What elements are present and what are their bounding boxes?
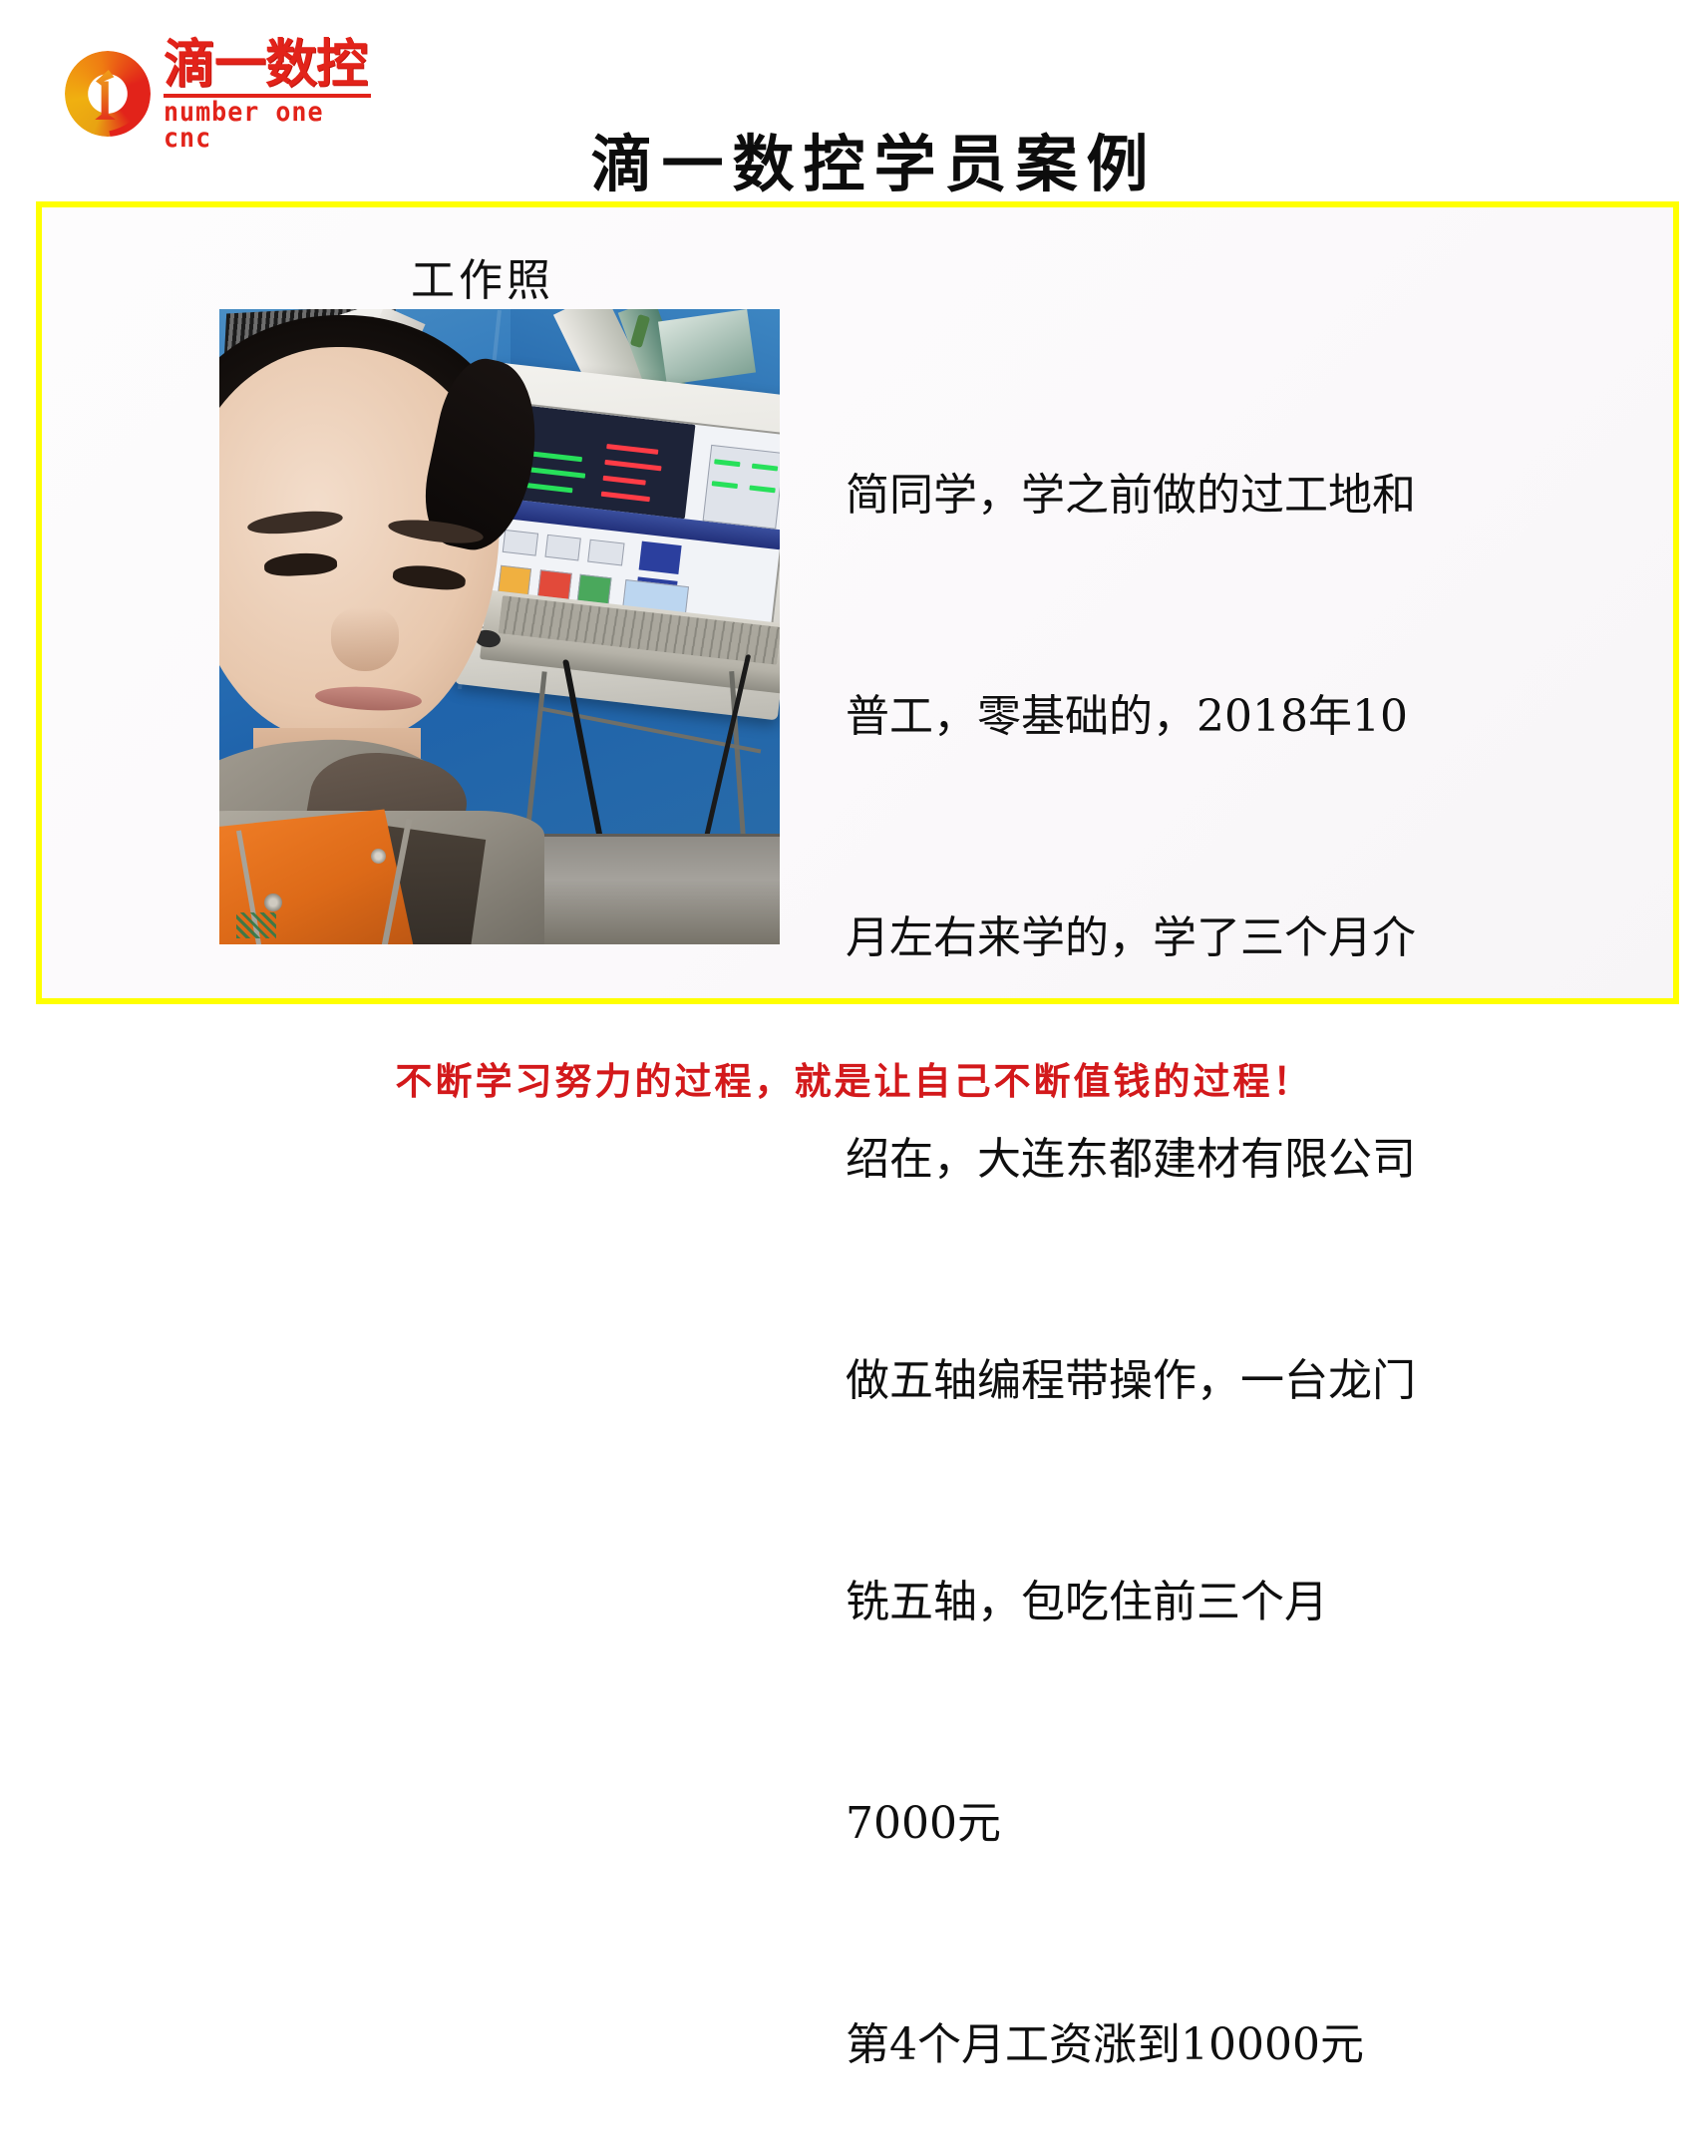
brand-name-cn: 滴一数控	[164, 39, 371, 91]
testimonial-line: 简同学，学之前做的过工地和	[846, 459, 1524, 533]
photo-green-strip	[658, 309, 756, 385]
testimonial-line: 月左右来学的，学了三个月介	[846, 901, 1524, 975]
testimonial-line: 绍在，大连东都建材有限公司	[846, 1123, 1524, 1197]
photo-caption-label: 工作照	[411, 244, 554, 308]
testimonial-line: 做五轴编程带操作，一台龙门	[846, 1344, 1524, 1418]
testimonial-line: 7000元	[846, 1787, 1524, 1861]
photo-cnc-button	[544, 535, 581, 560]
photo-person-nose	[331, 607, 398, 671]
testimonial-text: 简同学，学之前做的过工地和 普工，零基础的，2018年10 月左右来学的，学了三…	[846, 311, 1524, 2156]
page-title: 滴一数控学员案例	[0, 114, 1708, 203]
testimonial-line: 普工，零基础的，2018年10	[846, 680, 1524, 754]
photo-cnc-blue-button	[638, 541, 681, 575]
testimonial-line: 铣五轴，包吃住前三个月	[846, 1566, 1524, 1639]
photo-jacket-snap	[264, 894, 282, 911]
testimonial-line: 第4个月工资涨到10000元	[846, 2008, 1524, 2082]
student-workplace-photo	[219, 309, 780, 944]
photo-cnc-button	[502, 530, 538, 555]
photo-cnc-button	[587, 539, 624, 565]
footer-slogan: 不断学习努力的过程，就是让自己不断值钱的过程！	[0, 1051, 1708, 1105]
photo-jacket-embroidery	[236, 912, 276, 938]
